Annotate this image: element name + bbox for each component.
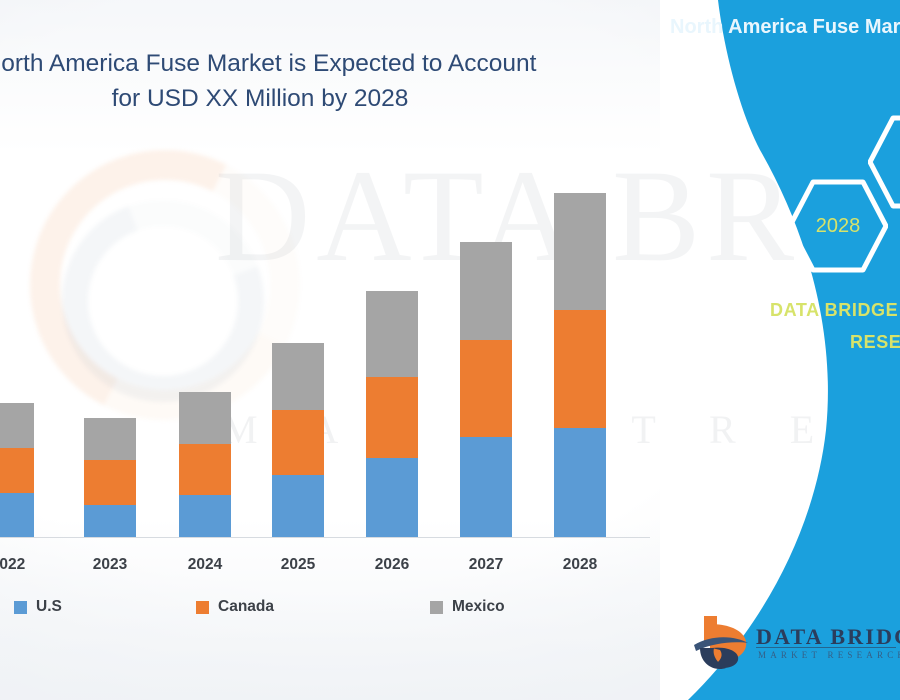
- bar-segment-2026-canada: [366, 377, 418, 458]
- panel-brand-line-1: DATA BRIDGE MARKET: [770, 300, 900, 321]
- logo-divider: [756, 647, 896, 648]
- bar-segment-2025-mexico: [272, 343, 324, 410]
- bar-segment-2027-canada: [460, 340, 512, 437]
- x-axis-label-2022: 2022: [0, 556, 34, 574]
- bar-2024: [179, 392, 231, 537]
- bar-segment-2023-mexico: [84, 418, 136, 460]
- bar-2028: [554, 193, 606, 537]
- hexagon-badge-secondary-label: 20: [868, 112, 900, 212]
- stacked-bar-chart: 2022202320242025202620272028 U.SCanadaMe…: [0, 0, 660, 700]
- hexagon-badge-secondary: 20: [868, 112, 900, 212]
- legend-item-canada[interactable]: Canada: [196, 598, 274, 616]
- bar-segment-2028-mexico: [554, 193, 606, 310]
- bar-segment-2023-canada: [84, 460, 136, 505]
- legend-swatch-icon: [430, 601, 443, 614]
- bar-segment-2022-us: [0, 493, 34, 537]
- bar-segment-2022-canada: [0, 448, 34, 493]
- bar-2026: [366, 291, 418, 537]
- panel-brand-line-2: RESEARCH: [850, 332, 900, 353]
- side-panel: North America Fuse Market 2028 20 DATA B…: [620, 0, 900, 700]
- bar-segment-2024-canada: [179, 444, 231, 495]
- logo: DATA BRIDGE MARKET RESEARCH: [690, 612, 900, 684]
- bar-segment-2025-canada: [272, 410, 324, 475]
- bar-segment-2025-us: [272, 475, 324, 537]
- slide-canvas: DATA BRIDGE M A R K E T R E S E A R C H …: [0, 0, 900, 700]
- legend-label: Canada: [218, 598, 274, 616]
- x-axis-label-2026: 2026: [366, 556, 418, 574]
- x-axis-label-2023: 2023: [84, 556, 136, 574]
- bar-2022: [0, 403, 34, 537]
- x-axis-label-2025: 2025: [272, 556, 324, 574]
- bar-2025: [272, 343, 324, 537]
- bar-segment-2024-mexico: [179, 392, 231, 444]
- legend-swatch-icon: [14, 601, 27, 614]
- legend-label: U.S: [36, 598, 62, 616]
- bar-segment-2026-us: [366, 458, 418, 537]
- bar-2027: [460, 242, 512, 537]
- bar-segment-2026-mexico: [366, 291, 418, 377]
- x-axis-label-2024: 2024: [179, 556, 231, 574]
- bar-segment-2028-us: [554, 428, 606, 537]
- x-axis-label-2027: 2027: [460, 556, 512, 574]
- logo-mark-icon: [690, 612, 754, 674]
- bar-segment-2027-us: [460, 437, 512, 537]
- bar-segment-2028-canada: [554, 310, 606, 428]
- bar-segment-2022-mexico: [0, 403, 34, 448]
- legend-label: Mexico: [452, 598, 505, 616]
- legend-swatch-icon: [196, 601, 209, 614]
- logo-tagline: MARKET RESEARCH: [758, 650, 900, 660]
- legend-item-us[interactable]: U.S: [14, 598, 62, 616]
- bar-segment-2027-mexico: [460, 242, 512, 340]
- bar-2023: [84, 418, 136, 537]
- bar-segment-2024-us: [179, 495, 231, 537]
- bar-segment-2023-us: [84, 505, 136, 537]
- panel-title: North America Fuse Market: [670, 16, 900, 39]
- chart-baseline: [0, 537, 650, 538]
- x-axis-label-2028: 2028: [554, 556, 606, 574]
- chart-legend: U.SCanadaMexico: [0, 598, 660, 624]
- legend-item-mexico[interactable]: Mexico: [430, 598, 505, 616]
